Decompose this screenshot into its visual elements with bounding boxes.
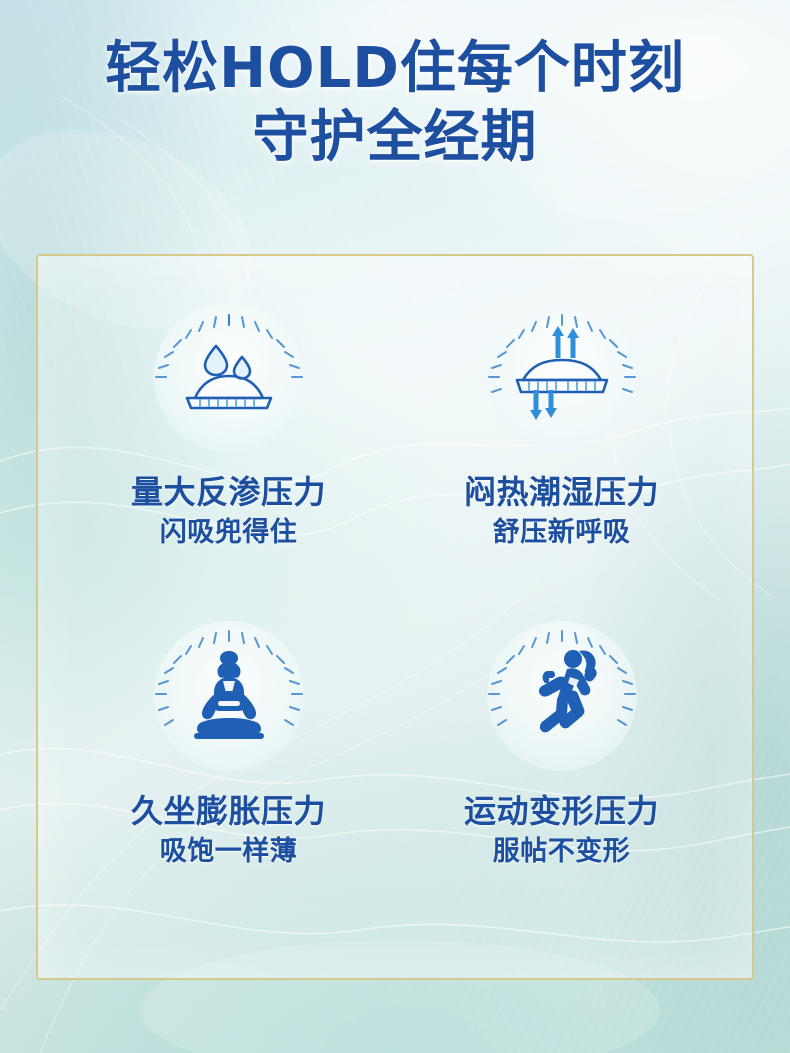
- feature-sub: 吸饱一样薄: [131, 835, 326, 869]
- absorb-drop-pad-icon: [154, 302, 304, 452]
- poster-canvas: 轻松HOLD住每个时刻 守护全经期: [0, 0, 790, 1053]
- breathable-airflow-pad-icon: [487, 302, 637, 452]
- feature-sub: 舒压新呼吸: [464, 516, 659, 550]
- feature-title: 久坐膨胀压力: [131, 793, 326, 831]
- feature-text-sports: 运动变形压力 服帖不变形: [464, 793, 659, 869]
- sitting-yoga-woman-icon: [154, 621, 304, 771]
- feature-title: 量大反渗压力: [131, 474, 326, 512]
- headline-block: 轻松HOLD住每个时刻 守护全经期: [0, 38, 790, 169]
- feature-item-breathability: 闷热潮湿压力 舒压新呼吸: [395, 302, 728, 621]
- feature-text-breathability: 闷热潮湿压力 舒压新呼吸: [464, 474, 659, 550]
- headline-line-2: 守护全经期: [0, 107, 790, 170]
- feature-panel: 量大反渗压力 闪吸兜得住: [36, 254, 754, 980]
- running-woman-icon: [487, 621, 637, 771]
- feature-sub: 闪吸兜得住: [131, 516, 326, 550]
- feature-title: 闷热潮湿压力: [464, 474, 659, 512]
- feature-item-long-sitting: 久坐膨胀压力 吸饱一样薄: [62, 621, 395, 940]
- feature-grid: 量大反渗压力 闪吸兜得住: [38, 256, 752, 978]
- headline-line-1: 轻松HOLD住每个时刻: [0, 38, 790, 101]
- feature-item-absorbency: 量大反渗压力 闪吸兜得住: [62, 302, 395, 621]
- feature-text-long-sitting: 久坐膨胀压力 吸饱一样薄: [131, 793, 326, 869]
- feature-text-absorbency: 量大反渗压力 闪吸兜得住: [131, 474, 326, 550]
- feature-item-sports: 运动变形压力 服帖不变形: [395, 621, 728, 940]
- feature-sub: 服帖不变形: [464, 835, 659, 869]
- feature-title: 运动变形压力: [464, 793, 659, 831]
